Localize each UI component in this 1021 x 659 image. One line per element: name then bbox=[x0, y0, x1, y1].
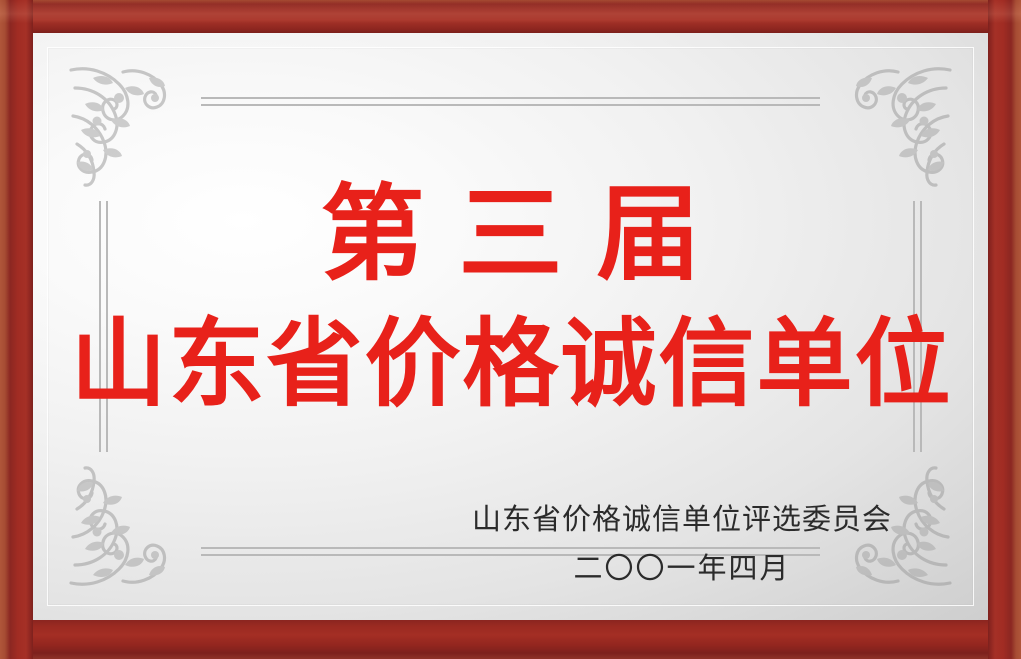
issuing-organization: 山东省价格诚信单位评选委员会 bbox=[472, 499, 892, 540]
frame-edge-left bbox=[0, 0, 33, 659]
floral-scroll-corner-ornament-icon bbox=[63, 58, 195, 190]
rule-top-outer bbox=[201, 97, 820, 99]
floral-scroll-corner-ornament-icon bbox=[63, 463, 195, 595]
metal-plate: 第三届 山东省价格诚信单位 山东省价格诚信单位评选委员会 二〇〇一年四月 bbox=[33, 33, 988, 620]
frame-edge-right bbox=[988, 0, 1021, 659]
rule-top-inner bbox=[201, 104, 820, 106]
signature-block: 山东省价格诚信单位评选委员会 二〇〇一年四月 bbox=[472, 499, 892, 589]
floral-scroll-corner-ornament-icon bbox=[826, 58, 958, 190]
frame-edge-top bbox=[0, 0, 1021, 33]
frame-edge-bottom bbox=[0, 620, 1021, 659]
award-title-line-1: 第三届 bbox=[33, 179, 988, 288]
award-plaque: 第三届 山东省价格诚信单位 山东省价格诚信单位评选委员会 二〇〇一年四月 bbox=[0, 0, 1021, 659]
award-title-line-2: 山东省价格诚信单位 bbox=[33, 314, 988, 415]
award-date: 二〇〇一年四月 bbox=[472, 548, 892, 589]
